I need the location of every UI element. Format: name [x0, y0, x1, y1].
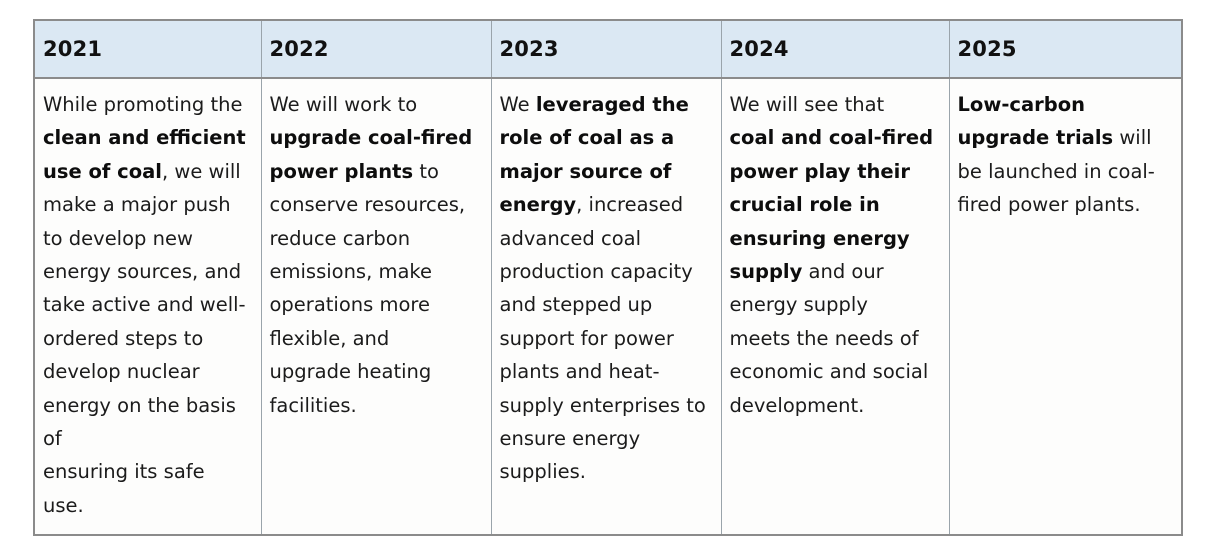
table-row: While promoting the clean and efficient …	[34, 78, 1182, 535]
column-header-2021: 2021	[34, 20, 261, 78]
table-cell-2022: We will work to upgrade coal-fired power…	[261, 78, 491, 535]
column-header-2022: 2022	[261, 20, 491, 78]
cell-text-2021: While promoting the clean and efficient …	[43, 88, 247, 522]
table-cell-2025: Low-carbon upgrade trials will be launch…	[949, 78, 1182, 535]
column-header-2025: 2025	[949, 20, 1182, 78]
cell-text-2024: We will see that coal and coal-fired pow…	[730, 88, 935, 422]
table-header: 2021 2022 2023 2024 2025	[34, 20, 1182, 78]
table-header-row: 2021 2022 2023 2024 2025	[34, 20, 1182, 78]
column-header-2023: 2023	[491, 20, 721, 78]
table-cell-2024: We will see that coal and coal-fired pow…	[721, 78, 949, 535]
policy-table-container: 2021 2022 2023 2024 2025 While promoting…	[33, 19, 1181, 536]
table-body: While promoting the clean and efficient …	[34, 78, 1182, 535]
cell-text-2025: Low-carbon upgrade trials will be launch…	[958, 88, 1168, 222]
coal-policy-by-year-table: 2021 2022 2023 2024 2025 While promoting…	[33, 19, 1183, 536]
table-cell-2023: We leveraged the role of coal as a major…	[491, 78, 721, 535]
cell-text-2022: We will work to upgrade coal-fired power…	[270, 88, 477, 422]
column-header-2024: 2024	[721, 20, 949, 78]
table-cell-2021: While promoting the clean and efficient …	[34, 78, 261, 535]
cell-text-2023: We leveraged the role of coal as a major…	[500, 88, 707, 489]
